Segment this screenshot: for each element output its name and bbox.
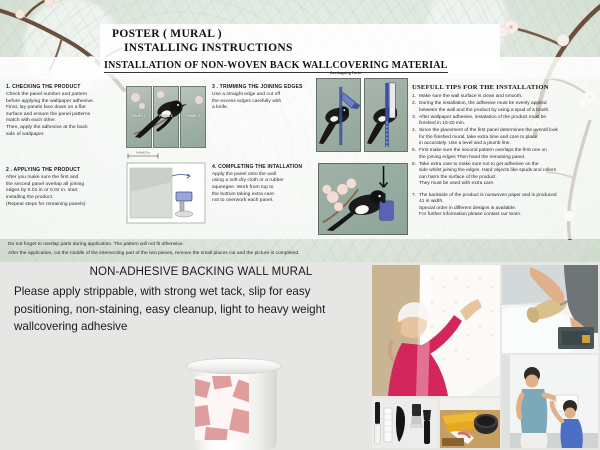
tip-text: First make sure the second pattern overl… <box>419 148 598 161</box>
description-block: NON-ADHESIVE BACKING WALL MURAL Please a… <box>14 266 370 336</box>
tip-text: Make sure the wall surface is clean and … <box>419 94 598 101</box>
tip-item: 1. Make sure the wall surface is clean a… <box>412 94 598 101</box>
step-1-line-6: Then, apply the adhesive at the back <box>6 125 124 132</box>
tip-line: the joining edges Then hand the remainin… <box>419 155 598 162</box>
tip-line: For further information please contact o… <box>419 212 598 219</box>
tip-line: They must be used with extra care. <box>419 181 598 188</box>
step-2-line-1: After you make sure the first and <box>6 175 124 182</box>
tip-text: During the installation, the adhesive mu… <box>419 101 598 114</box>
diagram-three-panels: PANEL 1 PANEL 2 PANEL 3 <box>126 86 206 148</box>
step-3-line-1: Use a straight edge and cut off <box>212 92 312 99</box>
step-1: 1. CHECKING THE PRODUCT Check the panel … <box>6 84 124 138</box>
tip-item: 3. After wallpaper adhesive, instalation… <box>412 115 598 128</box>
step-3: 3 . TRIMMING THE JOINING EDGES Use a str… <box>212 84 312 112</box>
tip-item: 5. First make sure the second pattern ov… <box>412 148 598 161</box>
product-heading: NON-ADHESIVE BACKING WALL MURAL <box>14 266 370 278</box>
step-1-line-3: Finst, lay panels face down on a flat <box>6 105 124 112</box>
instruction-column-left: 1. CHECKING THE PRODUCT Check the panel … <box>6 84 124 208</box>
tip-number: 7. <box>412 193 419 219</box>
panel-1-label: PANEL 1 <box>132 114 145 118</box>
photo-paste-table-supplies <box>440 398 500 448</box>
overlapping-parts-label: Overlapping Parts <box>330 71 361 75</box>
adhesive-application-illustration <box>126 162 206 224</box>
photo-roller-applying-paste <box>502 265 598 353</box>
application-notes: Do not forget to overlap parts during ap… <box>8 240 428 258</box>
tip-line: between the wall and the product by usin… <box>419 108 598 115</box>
tip-number: 3. <box>412 115 419 128</box>
note-line-2: After the application, cut the middle of… <box>8 249 428 258</box>
step-2-line-4: installing the product. <box>6 195 124 202</box>
bucket-lid <box>186 358 282 374</box>
step-2-body: After you make sure the first and the se… <box>6 175 124 208</box>
page-subtitle: INSTALLATION OF NON-WOVEN BACK WALLCOVER… <box>104 60 448 73</box>
tip-number: 2. <box>412 101 419 114</box>
step-3-title: 3 . TRIMMING THE JOINING EDGES <box>212 84 312 90</box>
tip-number: 4. <box>412 128 419 148</box>
woman-hanging-wallpaper-illustration <box>372 265 500 396</box>
panel-3-label: PANEL 3 <box>187 114 200 118</box>
svg-text:0.4 in/0.2 in: 0.4 in/0.2 in <box>136 151 150 155</box>
tip-item: 6. Take extra care to make sure not to g… <box>412 162 598 188</box>
diagram-trimming-edges <box>316 78 408 152</box>
tip-text: After wallpaper adhesive, instalation of… <box>419 115 598 128</box>
diagram-completing-installation <box>318 163 408 235</box>
product-description-section: NON-ADHESIVE BACKING WALL MURAL Please a… <box>0 262 600 450</box>
tip-text: The backside of the product is nonwoven … <box>419 193 598 219</box>
tip-line: Make sure the wall surface is clean and … <box>419 94 598 101</box>
step-1-title: 1. CHECKING THE PRODUCT <box>6 84 124 90</box>
tip-line: in accurately. Use a level and a plumb l… <box>419 141 598 148</box>
photo-wallpaper-tools-set <box>372 398 438 448</box>
step-1-line-1: Check the panel number and pattern <box>6 92 124 99</box>
step-4-body: Apply the panel onto the wall using a so… <box>212 172 312 205</box>
instruction-column-middle: 3 . TRIMMING THE JOINING EDGES Use a str… <box>212 84 312 205</box>
step-2-line-5: (Repeat steps for remaining panels) <box>6 202 124 209</box>
note-line-1: Do not forget to overlap parts during ap… <box>8 240 428 249</box>
tip-line: finished in 10-20 min. <box>419 121 598 128</box>
father-and-son-illustration <box>502 355 598 448</box>
tip-text: Take extra care to make sure not to get … <box>419 162 598 188</box>
step-4: 4. COMPLETING THE INTALLATION Apply the … <box>212 164 312 205</box>
diagram-scale-marker: 0.4 in/0.2 in <box>126 151 160 159</box>
paste-table-illustration <box>440 398 500 448</box>
tip-item: 2. During the installation, the adhesive… <box>412 101 598 114</box>
step-4-line-3: squeegee. Work from top to <box>212 185 312 192</box>
step-2-title: 2 . APPLYING THE PRODUCT <box>6 167 124 173</box>
step-3-line-3: a knife. <box>212 105 312 112</box>
step-3-body: Use a straight edge and cut off the exce… <box>212 92 312 112</box>
page-title: POSTER ( MURAL ) INSTALLING INSTRUCTIONS <box>112 28 293 55</box>
product-description: Please apply strippable, with strong wet… <box>14 283 370 336</box>
trim-diagram-right <box>364 78 409 152</box>
tip-number: 5. <box>412 148 419 161</box>
tips-title: USEFULL TIPS FOR THE INSTALLATION <box>412 84 598 91</box>
step-4-line-2: using a soft dry cloth or a rubber <box>212 178 312 185</box>
step-4-line-5: not to overwork each panel. <box>212 198 312 205</box>
paste-roller-illustration <box>502 265 598 353</box>
photo-woman-hanging-wallpaper <box>372 265 500 396</box>
step-2-line-3: edges by 0.01 in or 0.02 in. start <box>6 188 124 195</box>
photo-father-and-son-wallpapering <box>502 355 598 448</box>
panel-2-label: PANEL 2 <box>159 114 172 118</box>
useful-tips-section: USEFULL TIPS FOR THE INSTALLATION 1. Mak… <box>412 84 598 219</box>
tip-number: 6. <box>412 162 419 188</box>
step-1-body: Check the panel number and pattern befor… <box>6 92 124 138</box>
title-line-2: INSTALLING INSTRUCTIONS <box>112 42 293 56</box>
tip-text: Since the placement of the first panel d… <box>419 128 598 148</box>
step-1-line-5: match with each other. <box>6 118 124 125</box>
wallpaper-tools-illustration <box>372 398 438 448</box>
tip-number: 1. <box>412 94 419 101</box>
step-1-line-7: side of wallpaper. <box>6 132 124 139</box>
squeegee-smoothing-illustration <box>319 164 407 234</box>
bucket-label <box>195 376 249 440</box>
trim-diagram-left <box>316 78 361 152</box>
knife-cutting-illustration <box>317 79 360 151</box>
straight-edge-illustration <box>365 79 408 151</box>
adhesive-bucket-image <box>186 358 282 450</box>
title-line-1: POSTER ( MURAL ) <box>112 28 293 42</box>
step-2: 2 . APPLYING THE PRODUCT After you make … <box>6 167 124 208</box>
tip-item: 7. The backside of the product is nonwov… <box>412 193 598 219</box>
photo-collage <box>372 265 598 448</box>
tip-item: 4. Since the placement of the first pane… <box>412 128 598 148</box>
step-4-title: 4. COMPLETING THE INTALLATION <box>212 164 312 170</box>
diagram-applying-adhesive <box>126 162 206 224</box>
